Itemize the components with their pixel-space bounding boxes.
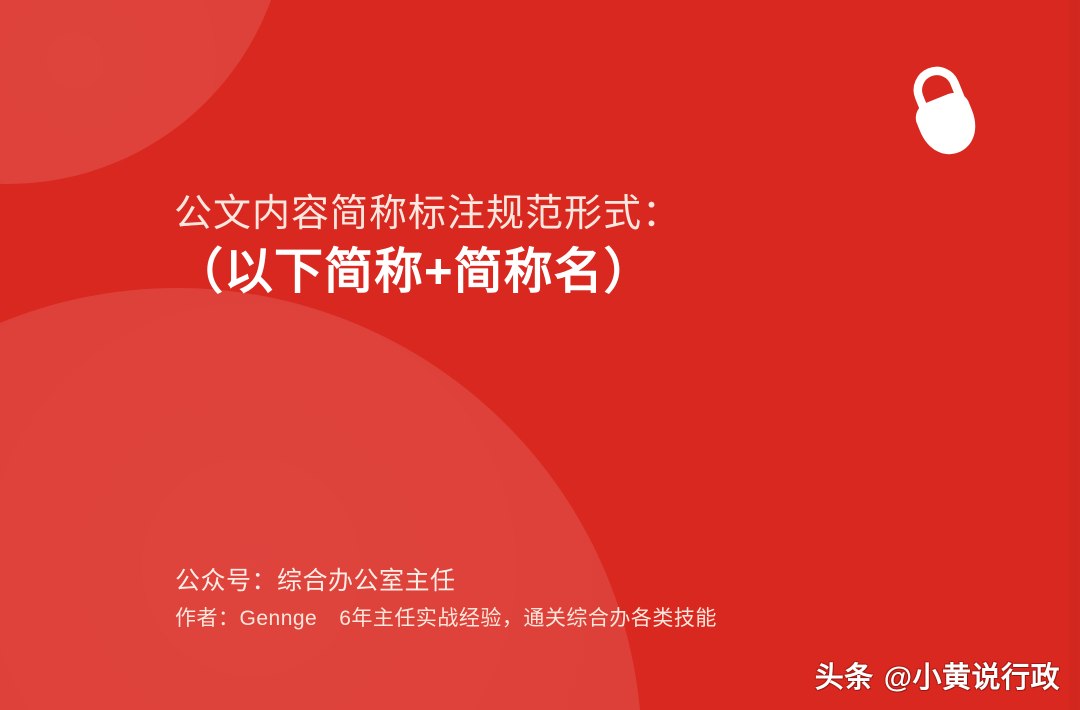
author-label: 作者：Gennge: [175, 607, 317, 630]
decorative-circle-bottom-left: [0, 288, 642, 710]
watermark-handle: @小黄说行政: [884, 654, 1060, 696]
author-detail: 6年主任实战经验，通关综合办各类技能: [339, 607, 717, 630]
watermark: 头条 @小黄说行政: [815, 654, 1060, 696]
headline-block: 公文内容简称标注规范形式： （以下简称+简称名）: [174, 192, 994, 301]
presentation-slide: 公文内容简称标注规范形式： （以下简称+简称名） 公众号：综合办公室主任 作者：…: [0, 0, 1080, 710]
public-account-line: 公众号：综合办公室主任: [175, 565, 1005, 599]
padlock-icon: [898, 58, 994, 162]
decorative-circle-top-left: [0, 0, 288, 184]
watermark-brand: 头条: [815, 654, 874, 696]
page-title: （以下简称+简称名）: [174, 244, 994, 302]
credits-block: 公众号：综合办公室主任 作者：Gennge6年主任实战经验，通关综合办各类技能: [175, 565, 1005, 633]
headline-subtitle: 公文内容简称标注规范形式：: [174, 192, 994, 238]
author-line: 作者：Gennge6年主任实战经验，通关综合办各类技能: [175, 605, 1005, 633]
decorative-edge-sheen: [1066, 0, 1080, 710]
